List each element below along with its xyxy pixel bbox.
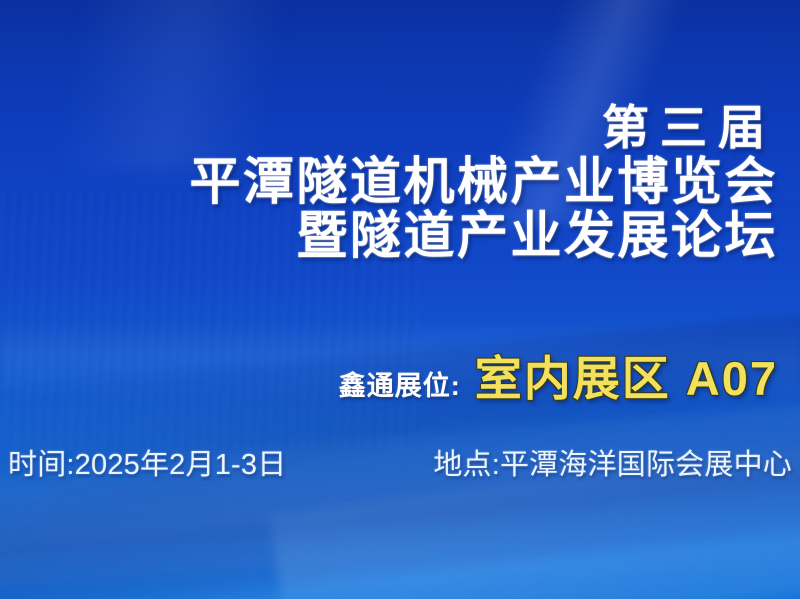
poster-content: 第三届 平潭隧道机械产业博览会 暨隧道产业发展论坛 鑫通展位: 室内展区 A07… [0,0,800,599]
event-venue: 地点:平潭海洋国际会展中心 [433,441,792,483]
title-subtitle-line: 暨隧道产业发展论坛 [20,210,780,262]
title-edition-line: 第三届 [20,104,780,152]
event-date: 时间:2025年2月1-3日 [8,441,286,483]
poster-title: 第三届 平潭隧道机械产业博览会 暨隧道产业发展论坛 [20,104,780,262]
event-meta: 时间:2025年2月1-3日 地点:平潭海洋国际会展中心 [8,441,792,483]
booth-label: 鑫通展位: [339,364,461,403]
exhibition-poster: 第三届 平潭隧道机械产业博览会 暨隧道产业发展论坛 鑫通展位: 室内展区 A07… [0,0,800,599]
title-main-line: 平潭隧道机械产业博览会 [20,156,780,208]
booth-info: 鑫通展位: 室内展区 A07 [20,340,778,409]
booth-number: 室内展区 A07 [475,340,778,409]
